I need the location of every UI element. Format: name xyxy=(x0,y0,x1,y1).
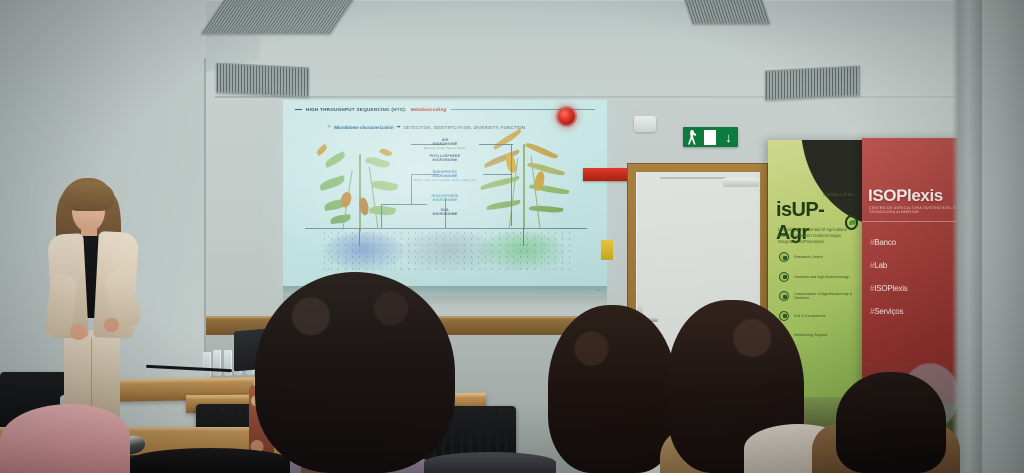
slide-title-main: HIGH THROUGHPUT SEQUENCING (HTS): xyxy=(306,107,407,112)
label-soil-microbiome: SOIL MICROBIOME xyxy=(415,208,475,217)
connector-rhizo-left xyxy=(381,204,427,205)
projection-screen: HIGH THROUGHPUT SEQUENCING (HTS): Metaba… xyxy=(283,100,607,296)
hair xyxy=(548,305,676,473)
soil-surface-line xyxy=(305,228,587,229)
connector-vert-left xyxy=(411,174,412,204)
label-endophytic-microbiome: ENDOPHYTIC MICROBIOME Within roots, stem… xyxy=(413,170,477,182)
root-left xyxy=(359,228,360,246)
subtitle-caps: DETECTION, IDENTIFICATION, DIVERSITY, FU… xyxy=(403,125,525,130)
presenter-hand-right xyxy=(104,318,119,332)
door-closer xyxy=(723,178,759,187)
hair xyxy=(424,452,556,473)
running-person-icon xyxy=(686,130,698,145)
bullet-circle-icon xyxy=(779,272,789,282)
presenter xyxy=(34,178,154,418)
door-closer-arm xyxy=(660,177,726,179)
connector-endo-right xyxy=(483,174,511,175)
connector-air-right xyxy=(479,144,513,145)
emergency-exit-sign: ↓ xyxy=(683,127,738,147)
water-glass xyxy=(213,350,221,376)
bullet-icon: ✧ xyxy=(327,124,331,130)
slide-title: HIGH THROUGHPUT SEQUENCING (HTS): Metaba… xyxy=(295,107,595,112)
banner-pretitle: a project of the xyxy=(823,192,854,197)
label-air-microbiome: AIR MICROBIOME Bacteria, Fungi Spores, P… xyxy=(415,138,475,150)
exit-door-icon xyxy=(704,130,716,145)
root-right xyxy=(523,228,524,246)
wall-pillar xyxy=(952,0,982,473)
list-item-label: Banco xyxy=(874,238,896,247)
hair xyxy=(255,272,455,473)
ceiling-edge-line xyxy=(215,96,1024,98)
connector-vert-right xyxy=(511,144,512,226)
audience-member xyxy=(836,372,946,473)
slide-title-italic: Metabarcoding xyxy=(411,107,447,112)
list-item-label: ISOPlexis xyxy=(874,284,907,293)
list-item-label: Research Centre xyxy=(794,255,823,259)
audience-member xyxy=(548,305,676,473)
plant-right-illustration xyxy=(479,140,571,230)
list-item: Genetics and Agri-biotechnology xyxy=(779,272,856,282)
fire-alarm-panel xyxy=(583,168,628,181)
list-item: Research Centre xyxy=(779,252,856,262)
conference-room-photo: HIGH THROUGHPUT SEQUENCING (HTS): Metaba… xyxy=(0,0,1024,473)
audience-member xyxy=(255,272,455,473)
hair xyxy=(836,372,946,473)
smoke-detector-icon xyxy=(634,116,656,132)
subtitle-bold: Microbiome characterization xyxy=(334,125,394,130)
title-rule xyxy=(451,109,595,110)
audience-member xyxy=(0,404,130,473)
label-phyllosphere-microbiome: PHYLLOSPHERE MICROBIOME xyxy=(415,154,475,163)
hair xyxy=(130,448,290,473)
presenter-hair-front xyxy=(64,181,114,211)
hair xyxy=(0,404,130,473)
list-item-label: Genetics and Agri-biotechnology xyxy=(794,275,849,279)
connector-rhizo-down xyxy=(381,204,382,228)
title-dash-icon xyxy=(295,109,302,110)
laser-pointer-dot-icon xyxy=(558,108,575,125)
list-item-label: Lab xyxy=(874,261,887,270)
label-rhizosphere-microbiome: RHIZOSPHERE MICROBIOME xyxy=(413,194,477,203)
slide-surface: HIGH THROUGHPUT SEQUENCING (HTS): Metaba… xyxy=(283,100,607,296)
list-item-label: Serviços xyxy=(874,307,903,316)
audience-member xyxy=(424,452,556,473)
slide-subtitle: ✧ Microbiome characterization ➡ DETECTIO… xyxy=(327,124,597,130)
ceiling-vent-left-icon xyxy=(201,0,355,34)
yellow-wall-sign xyxy=(601,240,613,260)
wall-vent-right-icon xyxy=(765,66,860,101)
down-arrow-icon: ↓ xyxy=(722,130,735,145)
list-item-label: Conservation of Agrobiodiversity & Genet… xyxy=(794,292,856,300)
wall-vent-left-icon xyxy=(216,63,309,98)
bullet-circle-icon xyxy=(779,252,789,262)
plant-left-illustration xyxy=(317,144,409,230)
ceiling-vent-right-icon xyxy=(684,0,770,24)
audience-member xyxy=(130,448,290,473)
banner-tagline: Unlocking the Potential Of Agricultural … xyxy=(778,227,856,245)
water-glass xyxy=(203,352,211,378)
presenter-hand-left xyxy=(70,324,87,340)
arrow-icon: ➡ xyxy=(397,124,401,130)
